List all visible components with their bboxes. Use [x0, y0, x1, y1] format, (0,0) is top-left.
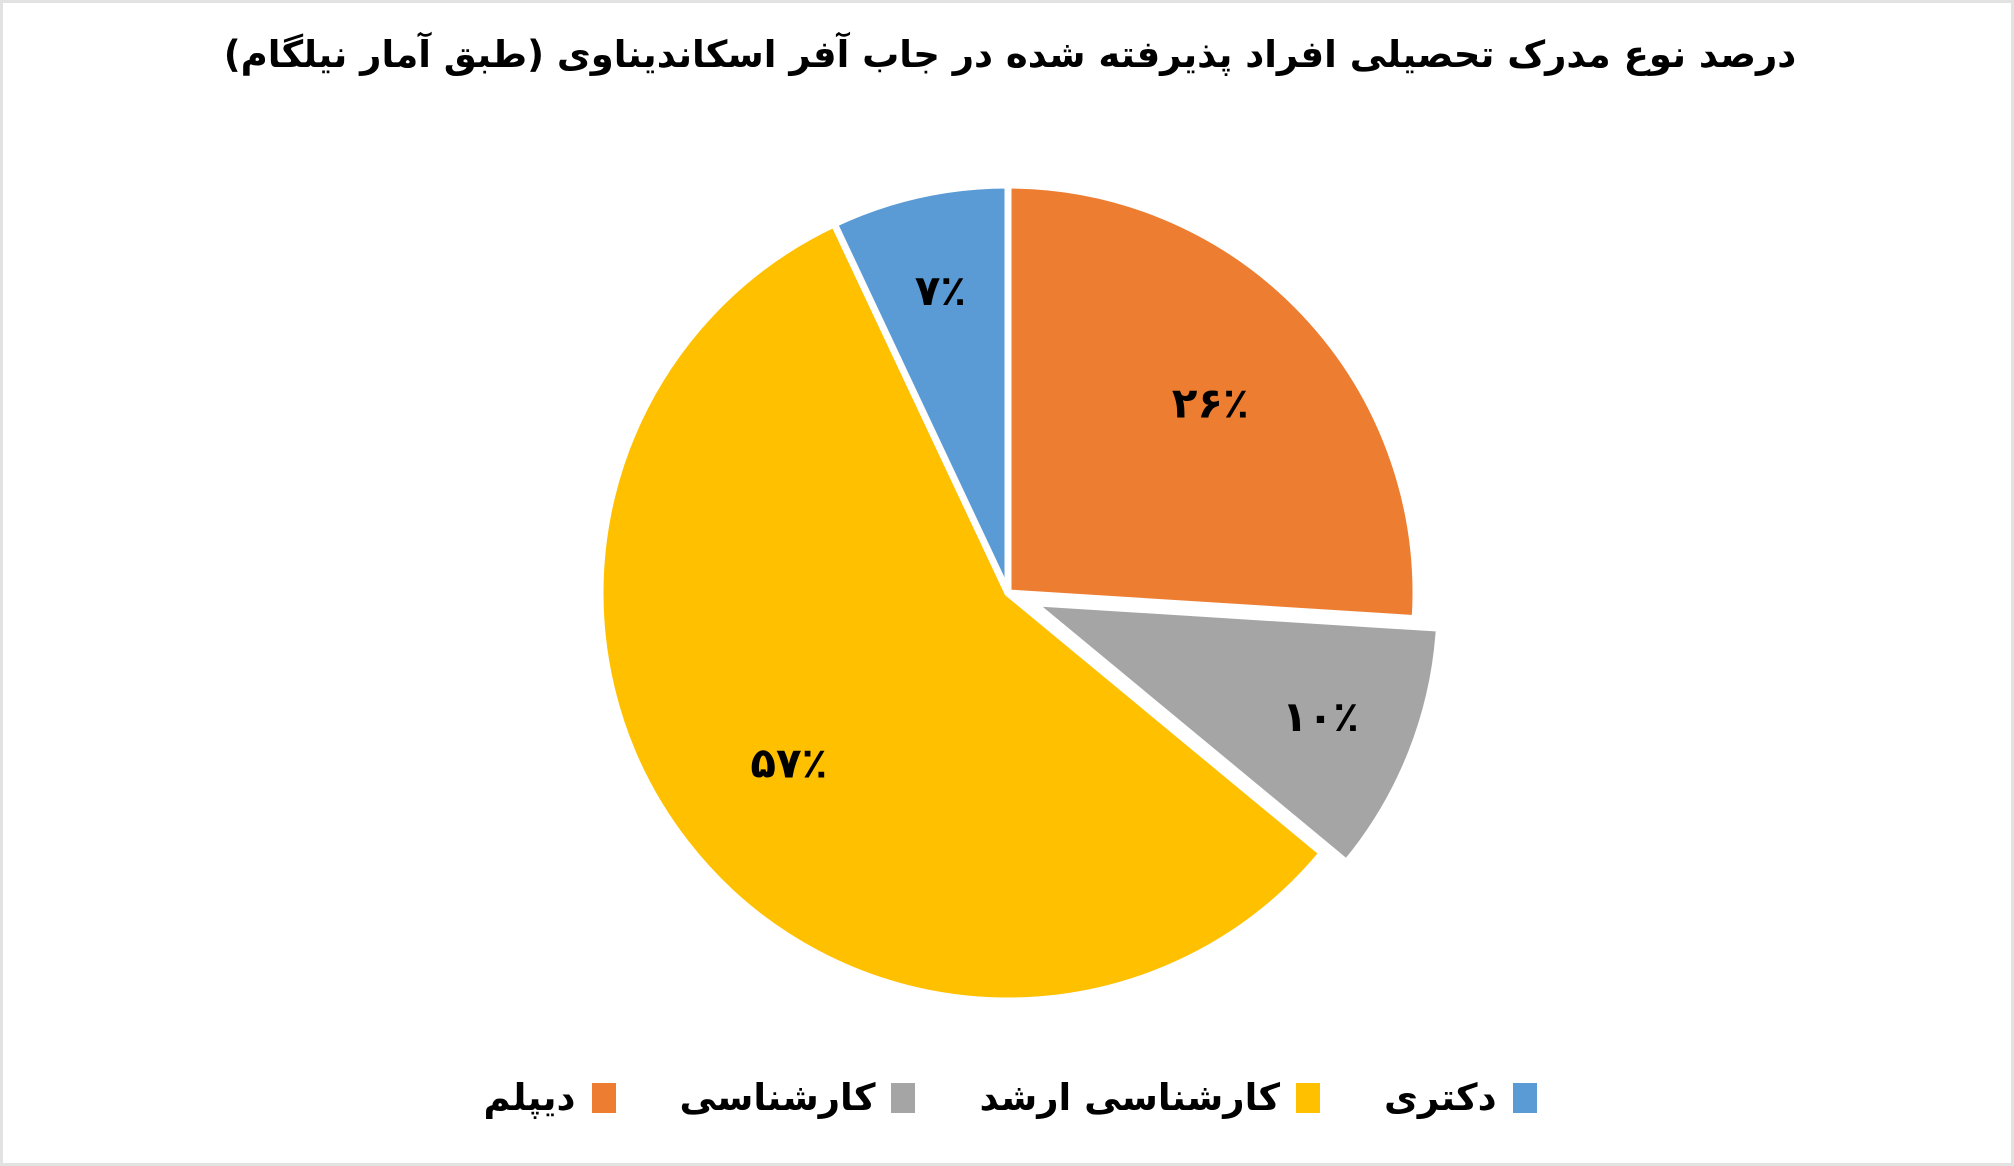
chart-title: درصد نوع مدرک تحصیلی افراد پذیرفته شده د… — [3, 27, 2014, 83]
pie-chart-svg: ۲۶٪۱۰٪۵۷٪۷٪ — [3, 108, 2014, 1008]
pie-slice-label-1: ۲۶٪ — [1172, 379, 1249, 428]
legend-swatch-icon-2 — [1296, 1083, 1320, 1113]
pie-slice-label-4: ۷٪ — [915, 266, 966, 315]
legend-label-1: دکتری — [1384, 1076, 1497, 1119]
legend-label-2: کارشناسی ارشد — [979, 1076, 1280, 1119]
legend-swatch-icon-1 — [1513, 1083, 1537, 1113]
legend-item-3[interactable]: کارشناسی — [680, 1076, 916, 1119]
legend-swatch-icon-4 — [592, 1083, 616, 1113]
chart-legend: دکتریکارشناسی ارشدکارشناسیدیپلم — [3, 1076, 2014, 1119]
chart-frame: درصد نوع مدرک تحصیلی افراد پذیرفته شده د… — [0, 0, 2014, 1166]
legend-item-2[interactable]: کارشناسی ارشد — [979, 1076, 1320, 1119]
legend-swatch-icon-3 — [891, 1083, 915, 1113]
legend-label-4: دیپلم — [483, 1076, 575, 1119]
pie-slice-label-2: ۱۰٪ — [1282, 692, 1359, 741]
legend-item-4[interactable]: دیپلم — [483, 1076, 615, 1119]
pie-plot-area: ۲۶٪۱۰٪۵۷٪۷٪ — [3, 108, 2014, 1008]
pie-slice-label-3: ۵۷٪ — [750, 739, 827, 788]
legend-label-3: کارشناسی — [680, 1076, 876, 1119]
legend-item-1[interactable]: دکتری — [1384, 1076, 1537, 1119]
pie-slices-group — [600, 185, 1439, 1001]
